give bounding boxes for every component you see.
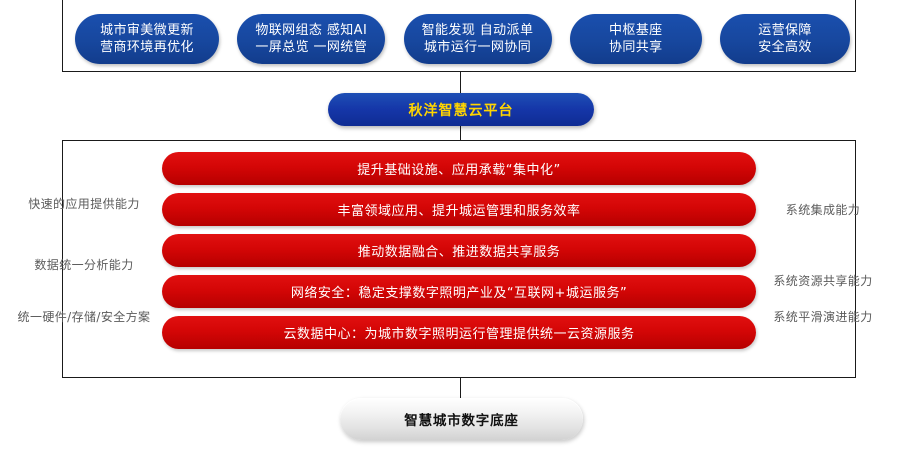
top-capability-pill-2[interactable]: 物联网组态 感知AI 一屏总览 一网统管 [237, 14, 385, 64]
platform-pill[interactable]: 秋洋智慧云平台 [328, 93, 594, 126]
capability-bar-5[interactable]: 云数据中心：为城市数字照明运行管理提供统一云资源服务 [162, 316, 756, 349]
top-capability-pill-3-line1: 智能发现 自动派单 [422, 22, 534, 39]
top-capability-pill-4[interactable]: 中枢基座 协同共享 [570, 14, 702, 64]
top-capability-pill-5-line1: 运营保障 [758, 22, 812, 39]
capability-bar-5-label: 云数据中心：为城市数字照明运行管理提供统一云资源服务 [283, 323, 634, 342]
capability-bar-3[interactable]: 推动数据融合、推进数据共享服务 [162, 234, 756, 267]
capability-bar-4-label: 网络安全：稳定支撑数字照明产业及“互联网+城运服务” [291, 282, 627, 301]
connector-top-to-platform [460, 72, 461, 94]
capability-bar-2[interactable]: 丰富领域应用、提升城运管理和服务效率 [162, 193, 756, 226]
right-label-3: 系统平滑演进能力 [758, 308, 888, 325]
capability-bar-4[interactable]: 网络安全：稳定支撑数字照明产业及“互联网+城运服务” [162, 275, 756, 308]
top-capability-pill-3[interactable]: 智能发现 自动派单 城市运行一网协同 [404, 14, 552, 64]
left-label-2: 数据统一分析能力 [14, 256, 154, 273]
top-capability-pill-5-line2: 安全高效 [758, 39, 812, 56]
right-label-1: 系统集成能力 [758, 201, 888, 218]
right-label-2: 系统资源共享能力 [758, 272, 888, 289]
base-pill-label: 智慧城市数字底座 [404, 409, 518, 429]
top-capability-pill-2-line1: 物联网组态 感知AI [255, 22, 367, 39]
capability-bar-2-label: 丰富领域应用、提升城运管理和服务效率 [337, 200, 580, 219]
diagram-canvas: 城市审美微更新 营商环境再优化 物联网组态 感知AI 一屏总览 一网统管 智能发… [0, 0, 902, 462]
top-capability-row: 城市审美微更新 营商环境再优化 物联网组态 感知AI 一屏总览 一网统管 智能发… [75, 14, 850, 64]
capability-bar-1-label: 提升基础设施、应用承载“集中化” [357, 159, 560, 178]
capability-bar-1[interactable]: 提升基础设施、应用承载“集中化” [162, 152, 756, 185]
top-capability-pill-1-line2: 营商环境再优化 [100, 39, 194, 56]
left-label-3: 统一硬件/存储/安全方案 [14, 308, 154, 325]
capability-bar-stack: 提升基础设施、应用承载“集中化” 丰富领域应用、提升城运管理和服务效率 推动数据… [162, 152, 756, 349]
top-capability-pill-4-line1: 中枢基座 [609, 22, 663, 39]
connector-main-to-base [460, 378, 461, 400]
connector-platform-to-main [460, 125, 461, 141]
top-capability-pill-1-line1: 城市审美微更新 [100, 22, 194, 39]
platform-pill-label: 秋洋智慧云平台 [409, 100, 514, 120]
top-capability-pill-4-line2: 协同共享 [609, 39, 663, 56]
top-capability-pill-1[interactable]: 城市审美微更新 营商环境再优化 [75, 14, 219, 64]
base-pill[interactable]: 智慧城市数字底座 [340, 398, 583, 440]
capability-bar-3-label: 推动数据融合、推进数据共享服务 [358, 241, 561, 260]
left-label-1: 快速的应用提供能力 [14, 195, 154, 212]
top-capability-pill-5[interactable]: 运营保障 安全高效 [720, 14, 850, 64]
top-capability-pill-3-line2: 城市运行一网协同 [424, 39, 531, 56]
top-capability-pill-2-line2: 一屏总览 一网统管 [255, 39, 367, 56]
